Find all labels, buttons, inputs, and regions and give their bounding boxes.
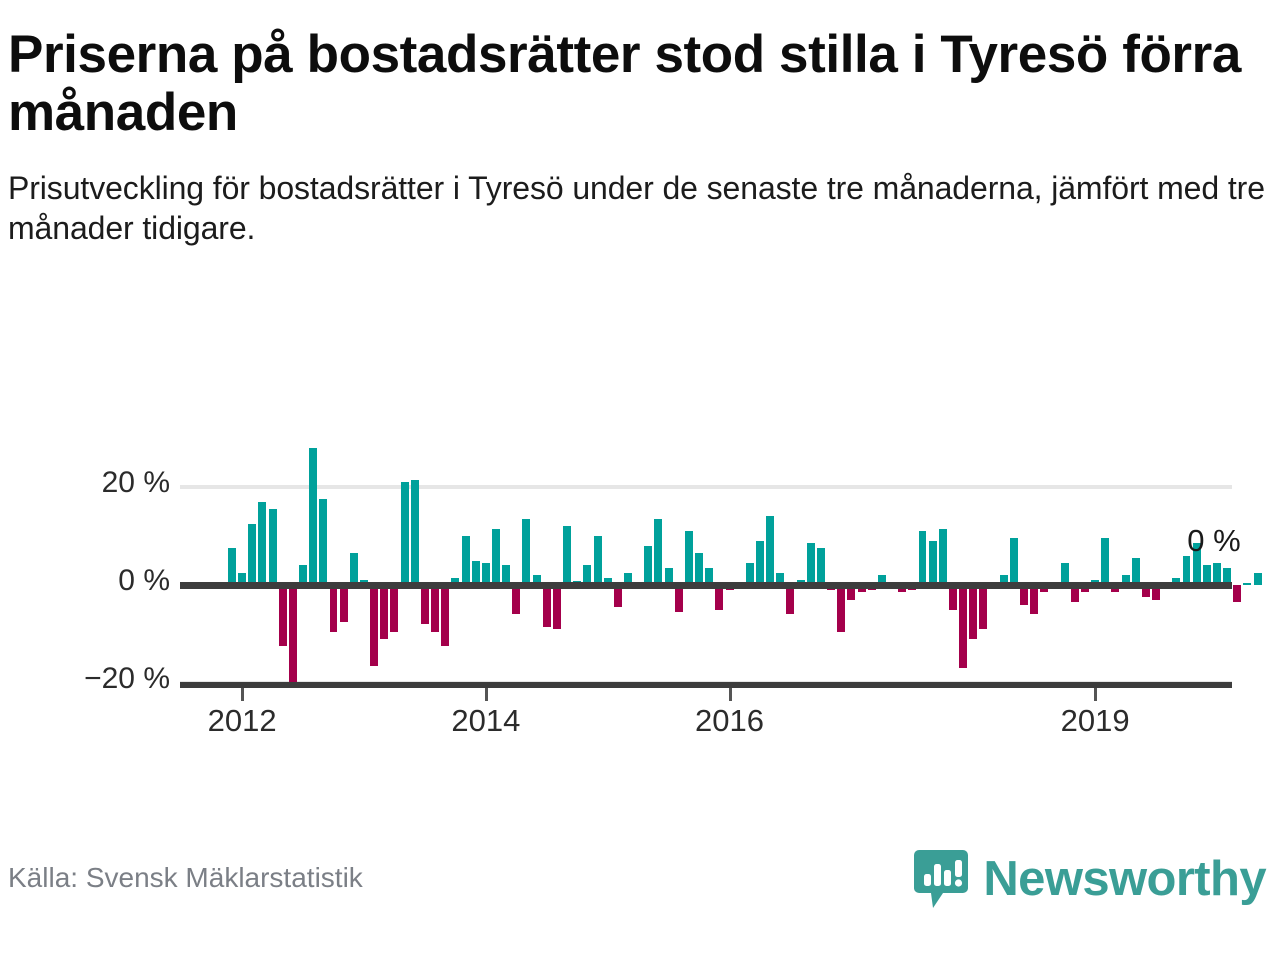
x-axis-tick-label: 2014 (451, 703, 520, 739)
bar (1010, 538, 1018, 585)
bar (553, 585, 561, 629)
bar (228, 548, 236, 585)
bar (685, 531, 693, 585)
bar (1101, 538, 1109, 585)
bar (1233, 585, 1241, 602)
y-axis-tick-label: −20 % (0, 662, 170, 696)
bar (817, 548, 825, 585)
bar (512, 585, 520, 614)
bar (1254, 573, 1262, 585)
bar (319, 499, 327, 585)
bar-series (180, 420, 1232, 680)
page-title: Priserna på bostadsrätter stod stilla i … (8, 26, 1272, 142)
y-axis-tick-label: 0 % (0, 564, 170, 598)
bar-chart: 20 %0 %−20 % 201220142016201920212023 0 … (0, 400, 1280, 760)
page-subtitle: Prisutveckling för bostadsrätter i Tyres… (8, 168, 1272, 249)
bar (939, 529, 947, 585)
bar (522, 519, 530, 585)
x-axis-tick-mark (485, 688, 488, 701)
bar (1243, 583, 1251, 585)
bar (1030, 585, 1038, 614)
bar (309, 448, 317, 585)
bar (390, 585, 398, 632)
bar (370, 585, 378, 666)
bar (756, 541, 764, 585)
x-axis-tick-mark (1094, 688, 1097, 701)
bar (411, 480, 419, 585)
plot-area (180, 420, 1232, 680)
bar (919, 531, 927, 585)
bar (969, 585, 977, 639)
x-axis-tick-label: 2016 (695, 703, 764, 739)
bar (675, 585, 683, 612)
bar (979, 585, 987, 629)
x-axis-tick-label: 2012 (208, 703, 277, 739)
y-axis-tick-label: 20 % (0, 466, 170, 500)
bar (380, 585, 388, 639)
bar (269, 509, 277, 585)
bar (654, 519, 662, 585)
bar (258, 502, 266, 585)
bar (340, 585, 348, 622)
bar (330, 585, 338, 632)
x-axis-tick-mark (241, 688, 244, 701)
chart-header: Priserna på bostadsrätter stod stilla i … (8, 26, 1272, 248)
bar (248, 524, 256, 585)
bar (1183, 556, 1191, 585)
bar (959, 585, 967, 668)
bar (543, 585, 551, 627)
bar-chart-speech-bubble-icon (913, 848, 969, 910)
bar (431, 585, 439, 632)
zero-line (180, 582, 1232, 589)
bar (492, 529, 500, 585)
x-axis-tick-label: 2019 (1061, 703, 1130, 739)
bar (929, 541, 937, 585)
bar (766, 516, 774, 585)
chart-page: Priserna på bostadsrätter stod stilla i … (0, 0, 1280, 960)
source-label: Källa: Svensk Mäklarstatistik (8, 862, 363, 894)
bar (401, 482, 409, 585)
bar (421, 585, 429, 624)
x-axis-tick-mark (729, 688, 732, 701)
bar (441, 585, 449, 646)
chart-footer: Källa: Svensk Mäklarstatistik Newsworthy (0, 840, 1280, 960)
bar (695, 553, 703, 585)
bar (1132, 558, 1140, 585)
bar (807, 543, 815, 585)
bar (563, 526, 571, 585)
brand-name: Newsworthy (983, 855, 1266, 904)
x-axis-line (180, 682, 1232, 688)
bar (837, 585, 845, 632)
bar (350, 553, 358, 585)
value-annotation: 0 % (1187, 523, 1240, 559)
bar (279, 585, 287, 646)
bar (786, 585, 794, 614)
brand-logo: Newsworthy (913, 848, 1266, 910)
bar (462, 536, 470, 585)
bar (289, 585, 297, 685)
bar (594, 536, 602, 585)
bar (644, 546, 652, 585)
